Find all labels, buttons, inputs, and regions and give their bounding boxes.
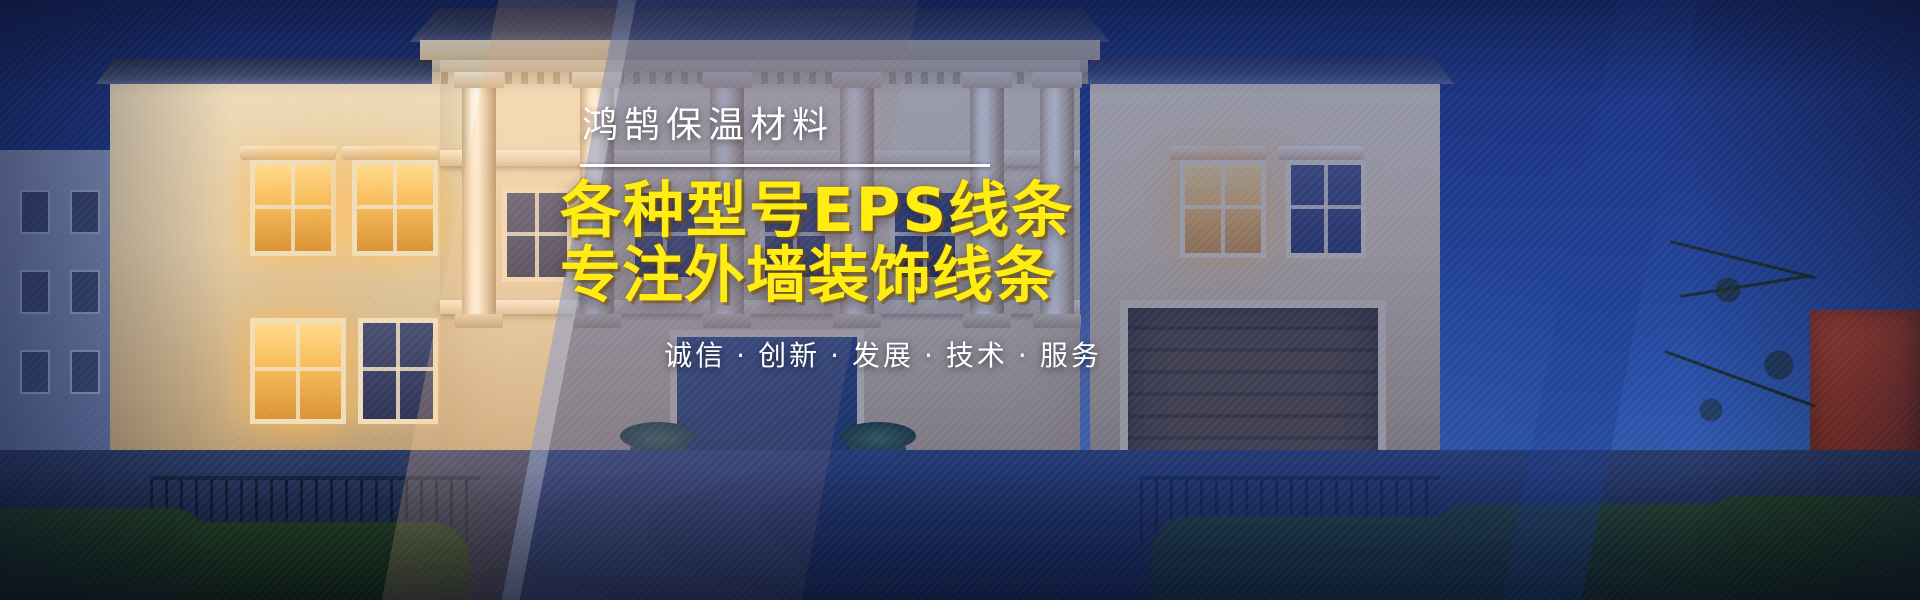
- headline-line-2: 专注外墙装饰线条: [560, 244, 1198, 309]
- lit-window: [250, 318, 346, 424]
- tagline-item: 创新: [758, 339, 820, 372]
- headline-line-1: 各种型号EPS线条: [560, 179, 1198, 244]
- center-roof: [410, 8, 1110, 42]
- tagline-item: 诚信: [664, 339, 726, 372]
- window: [70, 350, 100, 394]
- tagline-separator: ·: [820, 339, 852, 372]
- divider-rule: [580, 164, 990, 167]
- left-wing: [110, 70, 460, 500]
- tagline-item: 发展: [852, 339, 914, 372]
- window: [358, 318, 438, 424]
- window: [70, 270, 100, 314]
- tagline-separator: ·: [726, 339, 758, 372]
- headline: 各种型号EPS线条 专注外墙装饰线条: [558, 179, 1198, 308]
- banner-copy: 鸿鹄保温材料 各种型号EPS线条 专注外墙装饰线条 诚信·创新·发展·技术·服务: [558, 96, 1198, 374]
- tagline-item: 服务: [1040, 339, 1102, 372]
- tagline: 诚信·创新·发展·技术·服务: [558, 334, 1198, 374]
- left-wing-roof: [96, 58, 476, 84]
- cornice: [420, 40, 1100, 60]
- window-header: [1278, 146, 1364, 160]
- lit-window: [250, 160, 336, 256]
- window: [20, 190, 50, 234]
- column: [462, 86, 496, 316]
- window-header: [240, 146, 336, 160]
- cornice: [432, 60, 1088, 72]
- tagline-item: 技术: [946, 339, 1008, 372]
- hedge: [1700, 496, 1920, 600]
- window: [20, 350, 50, 394]
- hero-banner: 鸿鹄保温材料 各种型号EPS线条 专注外墙装饰线条 诚信·创新·发展·技术·服务: [0, 0, 1920, 600]
- lit-window: [352, 160, 438, 256]
- brand-name: 鸿鹄保温材料: [558, 96, 1198, 148]
- window-header: [342, 146, 438, 160]
- window: [20, 270, 50, 314]
- window: [70, 190, 100, 234]
- right-wing-roof: [1074, 58, 1454, 84]
- window: [1286, 160, 1366, 258]
- hedge: [170, 522, 470, 600]
- tagline-separator: ·: [914, 339, 946, 372]
- tagline-separator: ·: [1008, 339, 1040, 372]
